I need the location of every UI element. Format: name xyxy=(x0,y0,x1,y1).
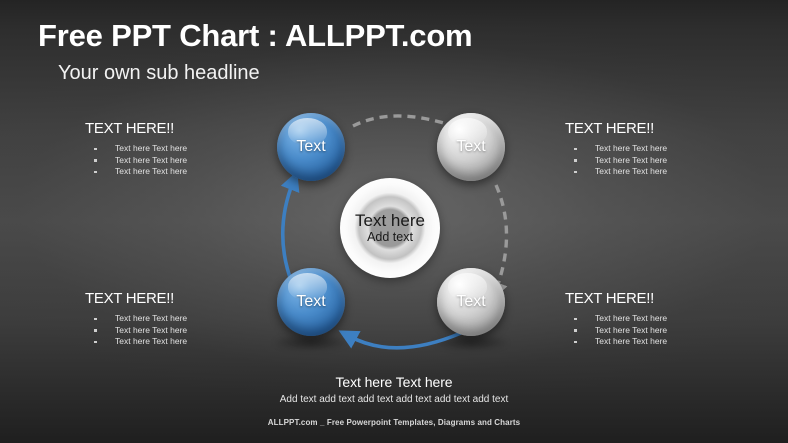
slide-canvas: Free PPT Chart : ALLPPT.com Your own sub… xyxy=(0,0,788,443)
cycle-diagram: Text Text Text Text Text here Add text xyxy=(255,105,535,360)
arrow-left-solid xyxy=(283,182,293,283)
node-label: Text xyxy=(296,138,325,156)
list-item: Text here Text here xyxy=(565,336,780,348)
node-label: Text xyxy=(456,138,485,156)
page-subtitle: Your own sub headline xyxy=(58,62,260,85)
arrow-right-dashed xyxy=(496,185,507,290)
arrow-bottom-solid xyxy=(349,333,461,348)
caption-body: Add text add text add text add text add … xyxy=(0,394,788,405)
node-label: Text xyxy=(296,293,325,311)
center-hub[interactable]: Text here Add text xyxy=(340,178,440,278)
node-bottom-right[interactable]: Text xyxy=(437,268,505,336)
node-top-left[interactable]: Text xyxy=(277,113,345,181)
text-block-bottom-right: TEXT HERE!! Text here Text here Text her… xyxy=(565,290,780,348)
list-item: Text here Text here xyxy=(565,166,780,178)
hub-subtitle: Add text xyxy=(367,230,413,245)
caption-title: Text here Text here xyxy=(0,374,788,390)
list-item: Text here Text here xyxy=(565,313,780,325)
node-bottom-left[interactable]: Text xyxy=(277,268,345,336)
page-title: Free PPT Chart : ALLPPT.com xyxy=(38,18,472,54)
list-item: Text here Text here xyxy=(565,143,780,155)
text-block-bullet-list: Text here Text here Text here Text here … xyxy=(565,313,780,348)
footer-credit: ALLPPT.com _ Free Powerpoint Templates, … xyxy=(0,418,788,427)
list-item: Text here Text here xyxy=(565,155,780,167)
text-block-bullet-list: Text here Text here Text here Text here … xyxy=(565,143,780,178)
node-top-right[interactable]: Text xyxy=(437,113,505,181)
text-block-top-right: TEXT HERE!! Text here Text here Text her… xyxy=(565,120,780,178)
node-label: Text xyxy=(456,293,485,311)
list-item: Text here Text here xyxy=(565,325,780,337)
text-block-heading: TEXT HERE!! xyxy=(565,290,780,307)
caption-block: Text here Text here Add text add text ad… xyxy=(0,374,788,405)
text-block-heading: TEXT HERE!! xyxy=(565,120,780,137)
hub-title: Text here xyxy=(355,211,425,230)
